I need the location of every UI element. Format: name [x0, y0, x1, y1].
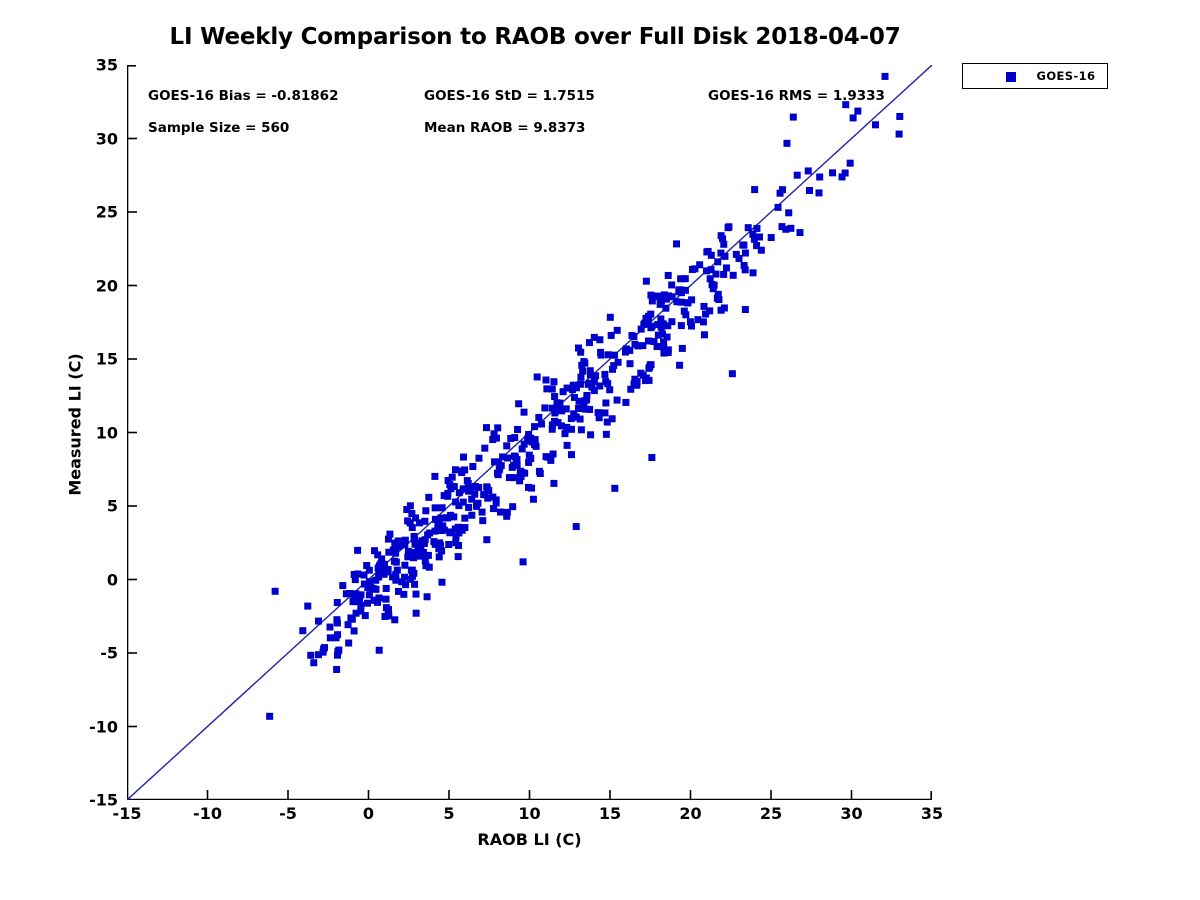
legend-marker-goes-16 [1006, 72, 1016, 82]
x-tick-label: 5 [443, 804, 454, 823]
x-tick-label: -10 [193, 804, 222, 823]
stat-mean_raob: Mean RAOB = 9.8373 [424, 120, 585, 136]
y-axis-title: Measured LI (C) [66, 325, 85, 525]
x-tick-label: 15 [599, 804, 621, 823]
stat-rms: GOES-16 RMS = 1.9333 [708, 88, 885, 104]
x-tick-label: 20 [679, 804, 701, 823]
x-tick-label: 25 [760, 804, 782, 823]
chart-figure: LI Weekly Comparison to RAOB over Full D… [0, 0, 1200, 900]
stat-bias: GOES-16 Bias = -0.81862 [148, 88, 338, 104]
x-tick-label: 10 [518, 804, 540, 823]
legend-box: GOES-16 [962, 63, 1108, 89]
stat-std: GOES-16 StD = 1.7515 [424, 88, 595, 104]
x-tick-label: 35 [921, 804, 943, 823]
x-tick-label: 0 [363, 804, 374, 823]
legend-label-goes-16: GOES-16 [1031, 69, 1101, 83]
x-tick-label: 30 [840, 804, 862, 823]
x-tick-label: -15 [113, 804, 142, 823]
x-axis-title: RAOB LI (C) [127, 830, 932, 849]
stat-sample_size: Sample Size = 560 [148, 120, 289, 136]
x-tick-label: -5 [279, 804, 297, 823]
